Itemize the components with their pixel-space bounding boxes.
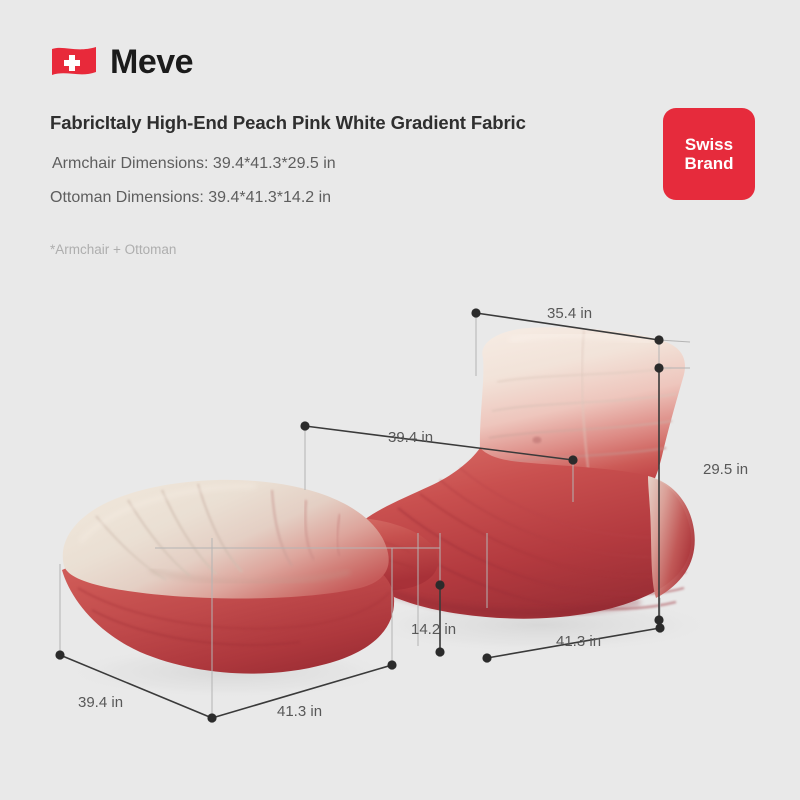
product-diagram: 35.4 in 29.5 in 39.4 in 41.3 in 14.2 in … (0, 280, 800, 750)
measure-label-armchair-width: 41.3 in (556, 633, 601, 650)
measure-label-armchair-height: 29.5 in (703, 461, 748, 478)
guide-lines (60, 313, 690, 718)
armchair-dimensions-text: Armchair Dimensions: 39.4*41.3*29.5 in (52, 155, 336, 173)
brand-name: Meve (110, 45, 193, 79)
footnote-text: *Armchair + Ottoman (50, 242, 176, 257)
badge-line-1: Swiss (685, 135, 733, 154)
badge-line-2: Brand (684, 154, 733, 173)
swiss-brand-badge: Swiss Brand (663, 108, 755, 200)
measure-label-ottoman-width: 41.3 in (277, 703, 322, 720)
measure-label-armchair-depth: 39.4 in (388, 429, 433, 446)
measure-label-ottoman-height: 14.2 in (411, 621, 456, 638)
measure-lines (60, 313, 660, 718)
ottoman-dimensions-text: Ottoman Dimensions: 39.4*41.3*14.2 in (50, 189, 331, 207)
measure-label-armchair-backrest-width: 35.4 in (547, 305, 592, 322)
page-title: FabricItaly High-End Peach Pink White Gr… (50, 112, 526, 134)
measure-endpoints (55, 308, 664, 722)
product-image-page: Meve FabricItaly High-End Peach Pink Whi… (0, 0, 800, 800)
swiss-flag-icon (50, 45, 98, 79)
brand-logo: Meve (50, 45, 193, 79)
measure-label-ottoman-depth: 39.4 in (78, 694, 123, 711)
dimension-lines (0, 280, 800, 750)
